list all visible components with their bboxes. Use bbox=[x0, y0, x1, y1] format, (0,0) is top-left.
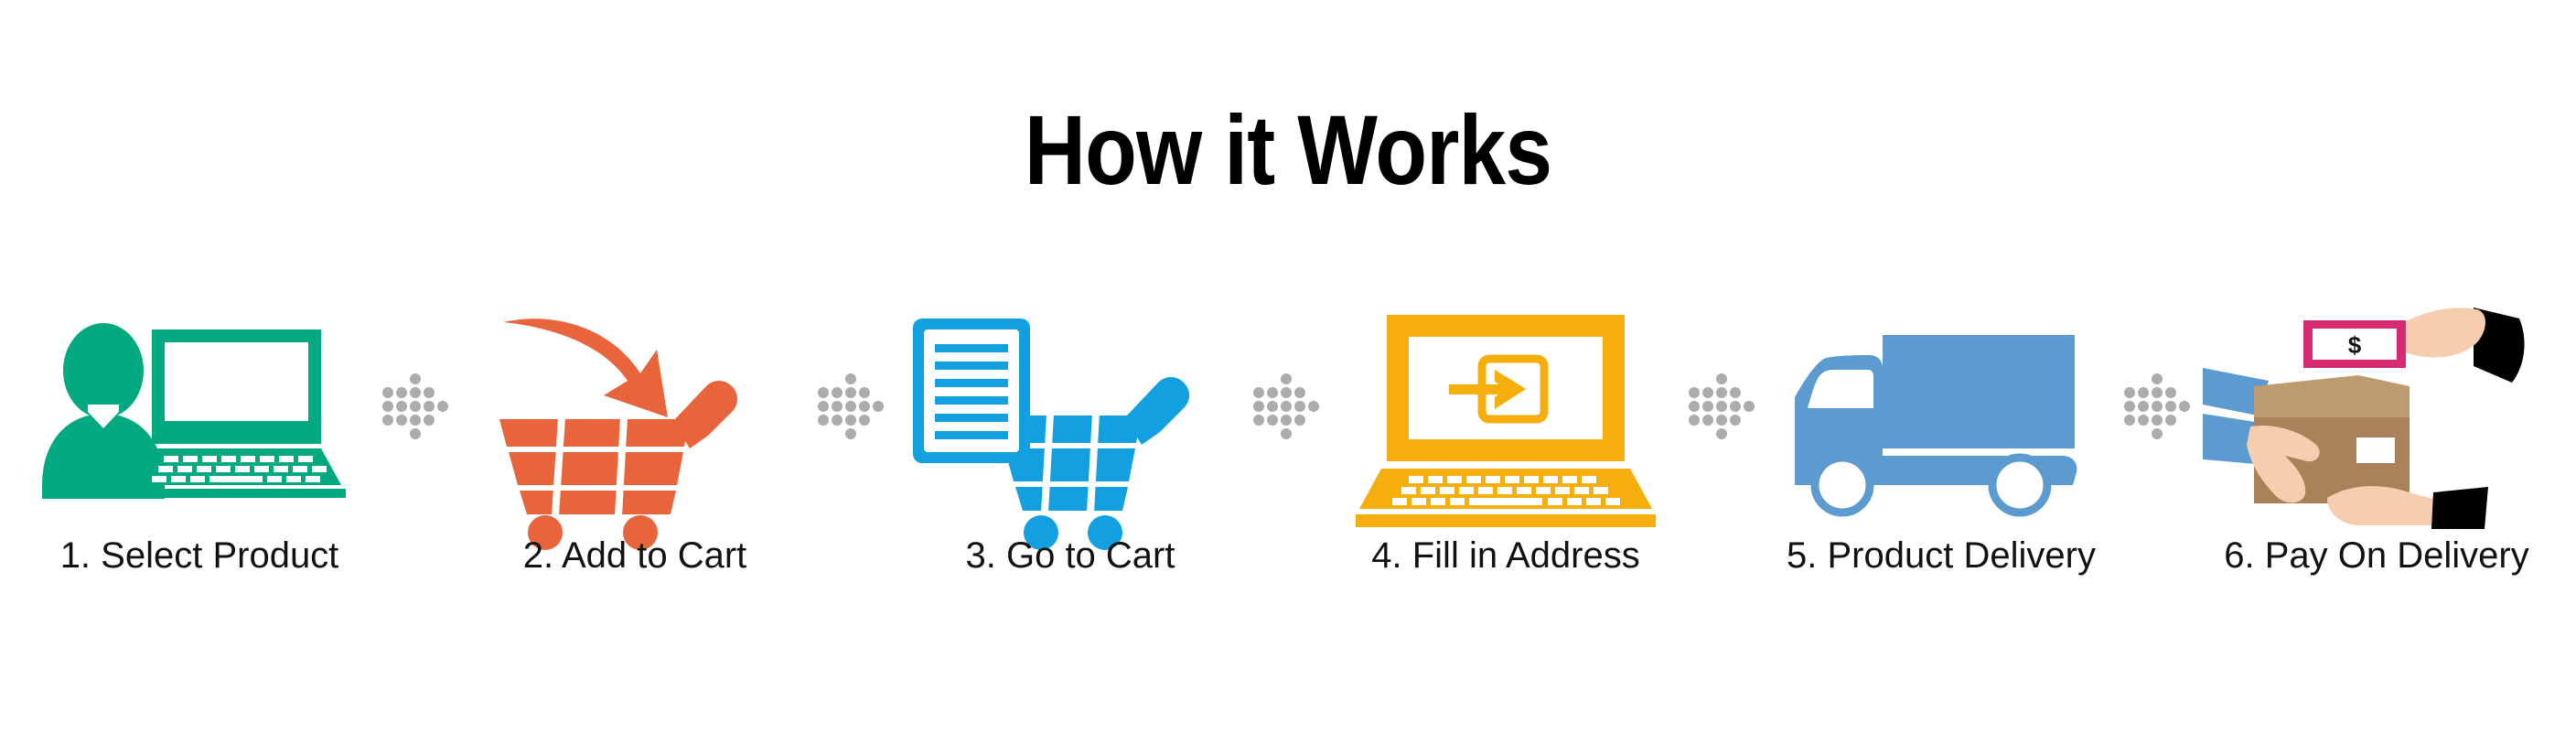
separator-1 bbox=[373, 302, 461, 531]
box-label bbox=[2356, 437, 2395, 463]
step-5-label: 5. Product Delivery bbox=[1767, 535, 2115, 577]
box-top bbox=[2254, 375, 2410, 417]
separator-2 bbox=[809, 302, 896, 531]
step-6-icon-area: $ bbox=[2203, 302, 2550, 531]
hands-box-money-icon: $ bbox=[2203, 302, 2550, 531]
cart-with-arrow-icon bbox=[461, 302, 809, 531]
step-5-product-delivery[interactable]: 5. Product Delivery bbox=[1767, 302, 2115, 650]
separator-4 bbox=[1680, 302, 1767, 531]
step-3-icon-area bbox=[896, 302, 1244, 531]
step-4-fill-in-address[interactable]: 4. Fill in Address bbox=[1332, 302, 1680, 650]
steps-row: 1. Select Product bbox=[0, 302, 2576, 650]
svg-text:$: $ bbox=[2348, 331, 2362, 359]
dotted-arrow-right-icon bbox=[2122, 373, 2195, 439]
step-4-icon-area bbox=[1332, 302, 1680, 531]
step-1-select-product[interactable]: 1. Select Product bbox=[26, 302, 373, 650]
dotted-arrow-right-icon bbox=[1687, 373, 1760, 439]
hand-lower-right bbox=[2327, 486, 2442, 525]
step-3-go-to-cart[interactable]: 3. Go to Cart bbox=[896, 302, 1244, 650]
dotted-arrow-right-icon bbox=[1251, 373, 1325, 439]
document-cart-icon bbox=[896, 302, 1244, 531]
step-1-label: 1. Select Product bbox=[26, 535, 373, 577]
person-laptop-icon bbox=[26, 302, 373, 531]
separator-5 bbox=[2115, 302, 2203, 531]
step-1-icon-area bbox=[26, 302, 373, 531]
step-6-pay-on-delivery[interactable]: $ bbox=[2203, 302, 2550, 650]
dotted-arrow-right-icon bbox=[381, 373, 454, 439]
dotted-arrow-right-icon bbox=[816, 373, 889, 439]
step-5-icon-area bbox=[1767, 302, 2115, 531]
step-2-add-to-cart[interactable]: 2. Add to Cart bbox=[461, 302, 809, 650]
step-3-label: 3. Go to Cart bbox=[896, 535, 1244, 577]
page-title: How it Works bbox=[180, 101, 2396, 200]
how-it-works-infographic: How it Works bbox=[0, 0, 2576, 745]
step-2-icon-area bbox=[461, 302, 809, 531]
separator-3 bbox=[1244, 302, 1332, 531]
delivery-truck-icon bbox=[1767, 302, 2115, 531]
sleeve-black-lower bbox=[2431, 487, 2488, 529]
laptop-login-icon bbox=[1332, 302, 1680, 531]
step-4-label: 4. Fill in Address bbox=[1332, 535, 1680, 577]
step-6-label: 6. Pay On Delivery bbox=[2203, 535, 2550, 577]
step-2-label: 2. Add to Cart bbox=[461, 535, 809, 577]
banknote: $ bbox=[2303, 320, 2406, 368]
